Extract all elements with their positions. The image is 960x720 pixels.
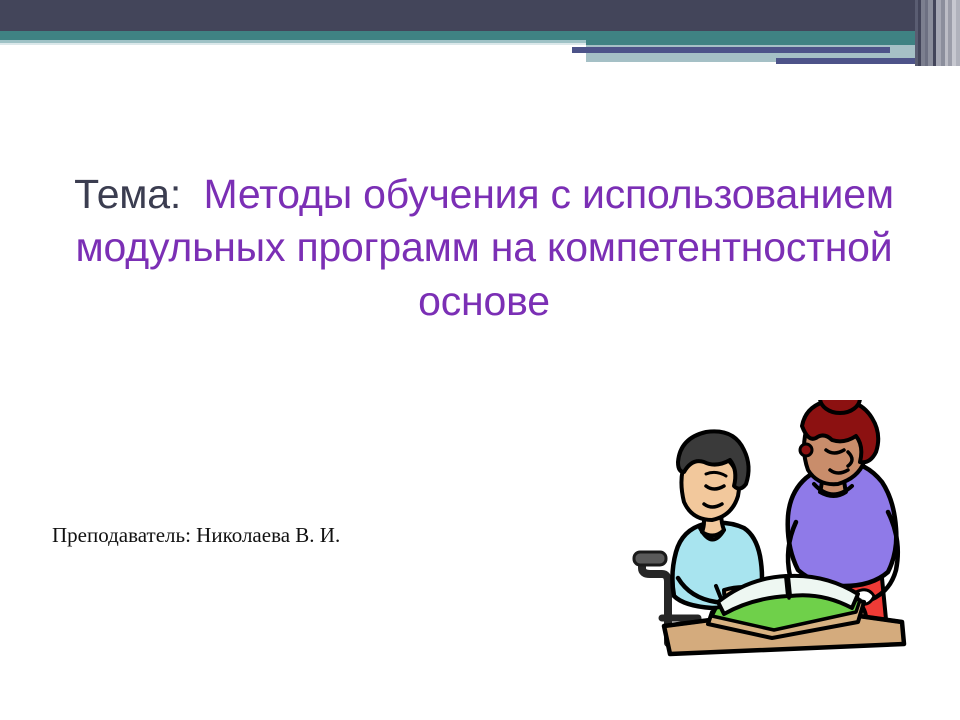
title-prefix-label: Тема: <box>74 171 181 217</box>
header-teal-band-right <box>586 31 960 45</box>
slide-header-decoration <box>0 0 960 78</box>
header-stripe-11 <box>956 0 960 66</box>
slide-title: Тема: Методы обучения с использованием м… <box>70 168 898 328</box>
header-vertical-stripes <box>915 0 960 66</box>
header-wash-band-left <box>0 43 586 45</box>
header-teal-band-left <box>0 31 586 40</box>
header-pale-band-left <box>0 40 586 43</box>
header-dark-band <box>0 0 960 31</box>
presenter-line: Преподаватель: Николаева В. И. <box>52 523 340 548</box>
slide-canvas: Тема: Методы обучения с использованием м… <box>0 0 960 720</box>
header-accent-rule-upper <box>572 47 890 53</box>
teacher-student-clipart <box>620 400 960 700</box>
